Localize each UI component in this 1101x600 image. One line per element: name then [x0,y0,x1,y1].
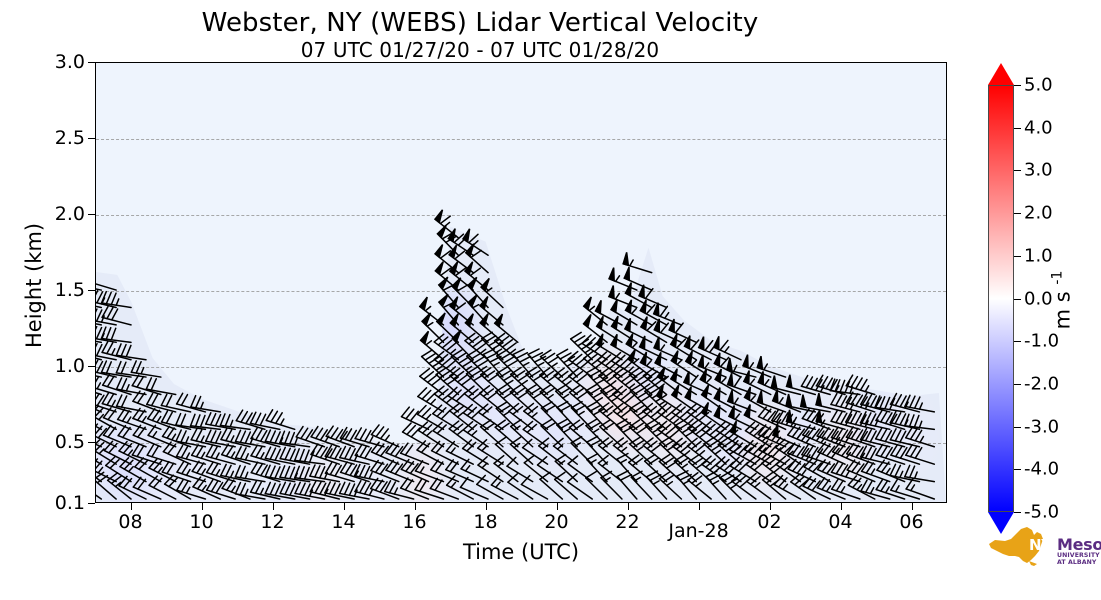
logo-university-text: UNIVERSITY AT ALBANY [1057,552,1100,566]
x-tick-mark [699,503,700,510]
wind-barb [788,443,816,464]
colorbar-tick-label: 0.0 [1024,288,1053,309]
wind-barb [401,478,429,499]
page-title: Webster, NY (WEBS) Lidar Vertical Veloci… [0,8,960,38]
wind-barb [96,270,116,290]
x-tick-label: 12 [260,511,284,533]
colorbar-tick-mark [1014,299,1021,300]
colorbar-tick-label: 4.0 [1024,117,1053,138]
x-tick-label: 10 [189,511,213,533]
x-tick-mark [628,503,629,510]
x-tick-mark [131,503,132,510]
colorbar-tick-label: -4.0 [1024,459,1059,480]
y-tick-mark [88,366,95,367]
y-tick-mark [88,138,95,139]
wind-barb [817,478,845,499]
x-tick-mark [273,503,274,510]
wind-barb [831,462,859,482]
x-tick-mark [202,503,203,510]
y-tick-label: 1.0 [23,355,85,377]
y-tick-mark [88,503,95,504]
wind-barbs-layer [96,63,946,502]
colorbar-tick-mark [1014,427,1021,428]
colorbar-tick-mark [1014,384,1021,385]
colorbar-tick-label: -5.0 [1024,502,1059,523]
x-tick-label: 22 [615,511,639,533]
y-tick-mark [88,290,95,291]
x-tick-label: Jan-28 [668,520,728,542]
wind-barb [266,410,295,430]
x-tick-label: 04 [828,511,852,533]
colorbar-tick-mark [1014,341,1021,342]
colorbar-tick-label: 2.0 [1024,203,1053,224]
colorbar-unit-label: m s -1 [1050,271,1075,330]
x-tick-label: 18 [473,511,497,533]
chart-subtitle: 07 UTC 01/27/20 - 07 UTC 01/28/20 [0,38,960,62]
x-tick-mark [557,503,558,510]
wind-barb [415,461,443,482]
wind-barb [295,466,325,481]
colorbar-tick-label: -3.0 [1024,416,1059,437]
wind-barb [355,445,384,464]
wind-barb [830,379,860,394]
x-tick-mark [770,503,771,510]
wind-barb [296,427,324,447]
wind-barb [371,460,399,481]
wind-barb [118,409,146,429]
x-tick-label: 08 [118,511,142,533]
y-tick-label: 0.1 [23,492,85,514]
wind-barb [371,478,399,499]
nys-mesonet-logo: NYS Mesonet UNIVERSITY AT ALBANY [985,523,1089,573]
wind-barb [568,474,593,499]
y-tick-label: 3.0 [23,51,85,73]
wind-barb [311,444,339,464]
colorbar-extend-high [988,63,1014,85]
colorbar-tick-mark [1014,85,1021,86]
y-tick-mark [88,62,95,63]
x-axis-label: Time (UTC) [95,540,947,564]
x-tick-label: 20 [544,511,568,533]
colorbar-tick-label: 3.0 [1024,160,1053,181]
x-tick-mark [841,503,842,510]
x-tick-mark [344,503,345,510]
wind-barb [133,477,161,499]
wind-barb [133,391,161,412]
wind-barb [131,361,161,377]
y-tick-mark [88,214,95,215]
y-tick-label: 2.0 [23,203,85,225]
wind-barb [207,480,236,500]
colorbar[interactable]: 5.04.03.02.01.00.0-1.0-2.0-3.0-4.0-5.0 [986,62,1016,512]
y-tick-label: 1.5 [23,279,85,301]
x-tick-mark [415,503,416,510]
x-tick-label: 02 [757,511,781,533]
colorbar-tick-mark [1014,128,1021,129]
colorbar-tick-mark [1014,170,1021,171]
chart-figure: Webster, NY (WEBS) Lidar Vertical Veloci… [0,0,1101,600]
wind-barb [847,444,875,465]
colorbar-tick-mark [1014,256,1021,257]
plot-area [95,62,947,503]
colorbar-tick-label: 1.0 [1024,245,1053,266]
y-tick-label: 0.5 [23,431,85,453]
x-tick-label: 06 [899,511,923,533]
colorbar-gradient [988,85,1014,512]
colorbar-tick-label: -1.0 [1024,331,1059,352]
colorbar-tick-mark [1014,512,1021,513]
x-tick-mark [912,503,913,510]
x-tick-label: 14 [331,511,355,533]
x-tick-mark [486,503,487,510]
y-tick-label: 2.5 [23,127,85,149]
wind-barb [818,460,845,482]
wind-barb [102,307,131,325]
wind-barb [96,273,101,290]
colorbar-tick-mark [1014,213,1021,214]
colorbar-tick-mark [1014,469,1021,470]
wind-barb [177,480,206,499]
colorbar-tick-label: -2.0 [1024,373,1059,394]
y-tick-mark [88,442,95,443]
x-tick-label: 16 [402,511,426,533]
wind-barb [371,425,398,447]
colorbar-tick-label: 5.0 [1024,75,1053,96]
